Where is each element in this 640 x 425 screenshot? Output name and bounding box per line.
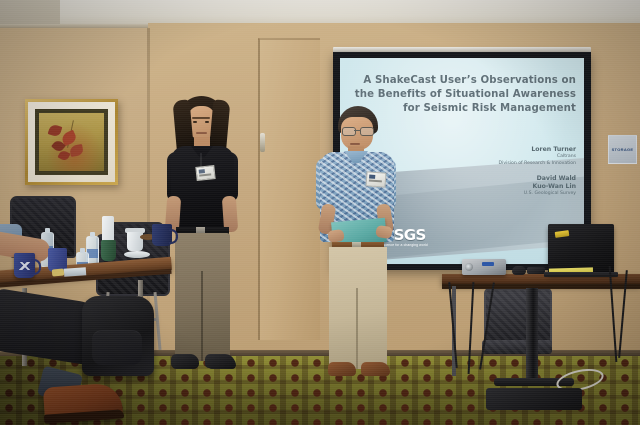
dark-blue-mug[interactable] — [152, 224, 172, 246]
av-device[interactable] — [527, 267, 545, 274]
white-plate — [124, 251, 150, 258]
projector-indicator — [482, 262, 494, 266]
presenter-right-hand — [375, 225, 393, 239]
snack — [52, 268, 65, 276]
floor-av-equipment — [486, 388, 582, 410]
artwork-leaf — [69, 144, 84, 157]
presenter-right-shoe — [328, 362, 356, 376]
mug-mountain-logo-icon — [19, 262, 30, 270]
av-area-chair-seat[interactable] — [482, 340, 552, 354]
backpack-pocket — [92, 330, 142, 365]
glasses-bridge — [354, 130, 360, 131]
av-area-chair[interactable] — [484, 288, 552, 348]
projector-lens-icon — [465, 263, 473, 271]
presenter-right-name-badge — [366, 171, 387, 187]
artwork-mat — [28, 102, 115, 182]
presenter-left-name-badge — [195, 165, 215, 181]
slide-title-line-2: the Benefits of Situational Awareness — [354, 88, 576, 102]
eyeglasses-icon — [341, 127, 374, 134]
storage-sign: STORAGE — [608, 135, 637, 164]
lens-right — [360, 127, 374, 136]
green-mug[interactable] — [101, 240, 116, 261]
presenter-left-shoe — [205, 354, 235, 368]
presenter-right-trouser-seam — [356, 288, 358, 369]
presenter-left-trouser-seam — [201, 271, 203, 361]
door-handle[interactable] — [260, 133, 265, 152]
badge-logo — [369, 175, 375, 179]
lens-left — [342, 127, 356, 136]
presenter-left-mouth — [196, 132, 207, 134]
door[interactable] — [258, 38, 320, 340]
chair-leg — [153, 292, 161, 350]
badge-name-line — [369, 180, 382, 182]
av-table-post — [526, 288, 538, 384]
badge-logo — [199, 169, 205, 174]
blue-logo-mug[interactable] — [14, 253, 35, 278]
badge-name-line — [199, 173, 211, 176]
slide-title-line-1: A ShakeCast User’s Observations on — [354, 74, 576, 88]
presenter-left-shoe — [171, 354, 199, 368]
computer-mouse[interactable] — [512, 266, 526, 275]
presenter-right — [316, 106, 408, 384]
presenter-left-brow — [192, 117, 210, 119]
napkin — [64, 267, 87, 277]
presenter-right-mouth — [350, 143, 360, 145]
presenter-left-eye — [193, 121, 197, 123]
artwork-image — [35, 109, 108, 175]
presenter-right-shoe — [361, 362, 390, 376]
presenter-left-eye — [205, 121, 209, 123]
backpack[interactable] — [82, 296, 154, 376]
storage-sign-label: STORAGE — [612, 147, 634, 152]
conference-room-photo: STORAGE A ShakeCast User’s Observations … — [0, 0, 640, 425]
framed-artwork — [25, 99, 118, 185]
presenter-right-trousers — [329, 247, 387, 369]
artwork-leaf — [48, 123, 63, 137]
laptop-keyboard-base[interactable] — [544, 272, 618, 277]
